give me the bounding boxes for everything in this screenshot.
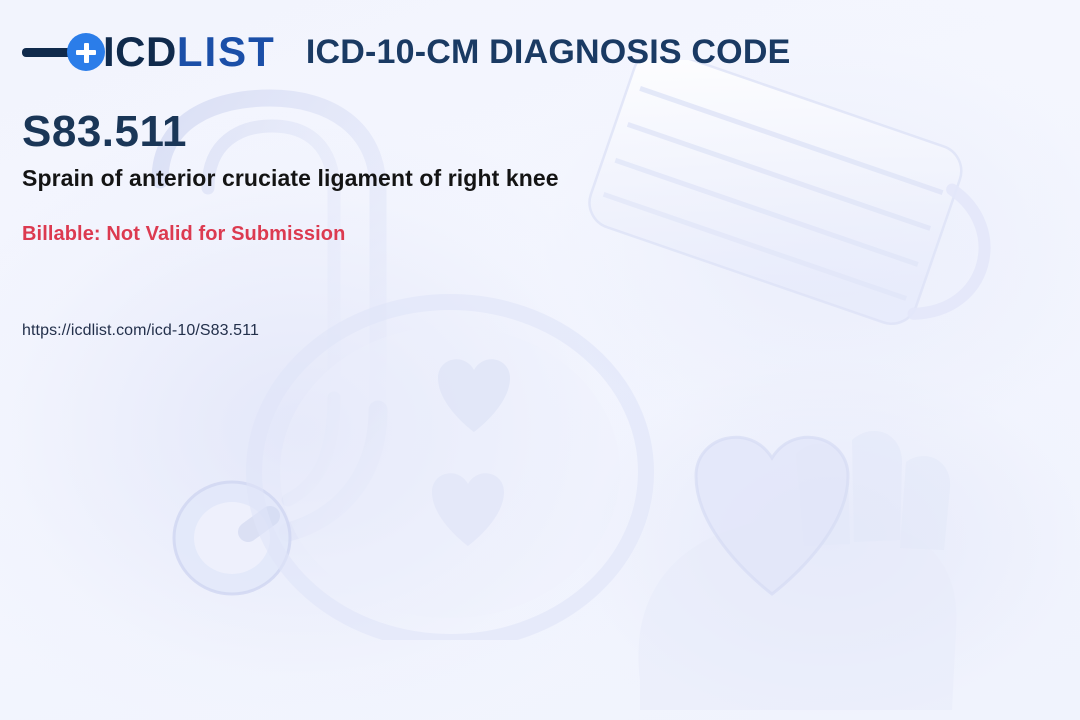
logo-word-icd: ICD [103,28,177,75]
surgical-mask-icon [580,60,1050,390]
diagnosis-description: Sprain of anterior cruciate ligament of … [22,165,559,192]
logo-wordmark: ICDLIST [103,31,276,73]
paper-hearts-icon [380,340,600,570]
diagnosis-code: S83.511 [22,108,187,156]
icdlist-logo[interactable]: ICDLIST [22,24,276,80]
source-url[interactable]: https://icdlist.com/icd-10/S83.511 [22,322,259,340]
stethoscope-icon [120,80,680,640]
plus-circle-icon [67,33,105,71]
plus-vertical-stroke [84,43,89,63]
logo-word-list: LIST [177,28,276,75]
icd-code-card: ICDLIST ICD-10-CM DIAGNOSIS CODE S83.511… [0,0,1080,720]
page-title: ICD-10-CM DIAGNOSIS CODE [306,33,791,72]
billable-status-badge: Billable: Not Valid for Submission [22,223,345,246]
hand-holding-heart-icon [600,380,1060,710]
header: ICDLIST ICD-10-CM DIAGNOSIS CODE [22,24,790,80]
